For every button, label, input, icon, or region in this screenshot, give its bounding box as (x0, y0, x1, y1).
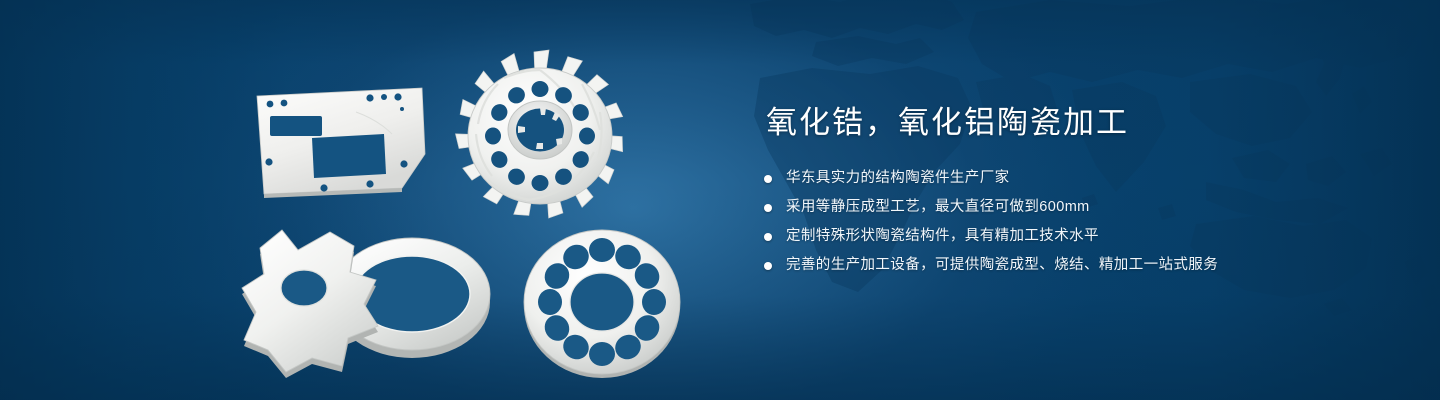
banner-text-block: 氧化锆，氧化铝陶瓷加工 华东具实力的结构陶瓷件生产厂家 采用等静压成型工艺，最大… (764, 104, 1384, 275)
ceramic-base-plate (252, 82, 432, 202)
bullet-dot-icon (764, 204, 772, 212)
feature-text: 华东具实力的结构陶瓷件生产厂家 (786, 170, 1010, 186)
list-item: 完善的生产加工设备，可提供陶瓷成型、烧结、精加工一站式服务 (764, 256, 1384, 275)
list-item: 定制特殊形状陶瓷结构件，具有精加工技术水平 (764, 227, 1384, 246)
page-title: 氧化锆，氧化铝陶瓷加工 (766, 104, 1384, 141)
ceramic-cross-plate (238, 226, 408, 376)
list-item: 华东具实力的结构陶瓷件生产厂家 (764, 169, 1384, 188)
feature-list: 华东具实力的结构陶瓷件生产厂家 采用等静压成型工艺，最大直径可做到600mm 定… (764, 169, 1384, 275)
bullet-dot-icon (764, 262, 772, 270)
feature-text: 定制特殊形状陶瓷结构件，具有精加工技术水平 (786, 228, 1099, 244)
ceramic-perforated-disc (518, 222, 686, 384)
list-item: 采用等静压成型工艺，最大直径可做到600mm (764, 198, 1384, 217)
ceramic-hero-banner: 氧化锆，氧化铝陶瓷加工 华东具实力的结构陶瓷件生产厂家 采用等静压成型工艺，最大… (0, 0, 1440, 400)
bullet-dot-icon (764, 175, 772, 183)
feature-text: 采用等静压成型工艺，最大直径可做到600mm (786, 199, 1090, 215)
feature-text: 完善的生产加工设备，可提供陶瓷成型、烧结、精加工一站式服务 (786, 257, 1218, 273)
product-photo-collage (230, 40, 730, 370)
ceramic-impeller (452, 48, 628, 224)
bullet-dot-icon (764, 233, 772, 241)
